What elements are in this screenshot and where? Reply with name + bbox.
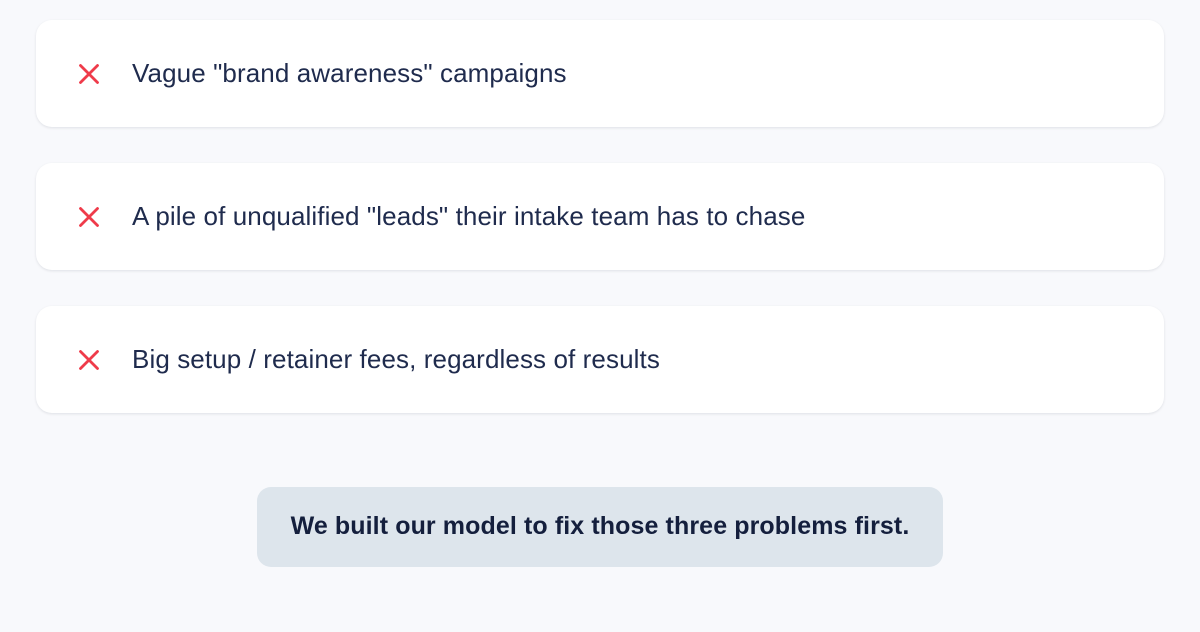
problem-label: Vague "brand awareness" campaigns — [132, 57, 567, 90]
problems-section: Vague "brand awareness" campaigns A pile… — [0, 0, 1200, 632]
problem-card: Big setup / retainer fees, regardless of… — [36, 306, 1164, 413]
problem-card: Vague "brand awareness" campaigns — [36, 20, 1164, 127]
closing-banner: We built our model to fix those three pr… — [257, 487, 944, 567]
x-mark-icon — [76, 347, 102, 373]
problem-label: A pile of unqualified "leads" their inta… — [132, 200, 805, 233]
problem-label: Big setup / retainer fees, regardless of… — [132, 343, 660, 376]
x-mark-icon — [76, 204, 102, 230]
closing-banner-text: We built our model to fix those three pr… — [291, 512, 910, 541]
closing-banner-row: We built our model to fix those three pr… — [36, 487, 1164, 567]
x-mark-icon — [76, 61, 102, 87]
problem-card: A pile of unqualified "leads" their inta… — [36, 163, 1164, 270]
problem-card-list: Vague "brand awareness" campaigns A pile… — [36, 20, 1164, 413]
